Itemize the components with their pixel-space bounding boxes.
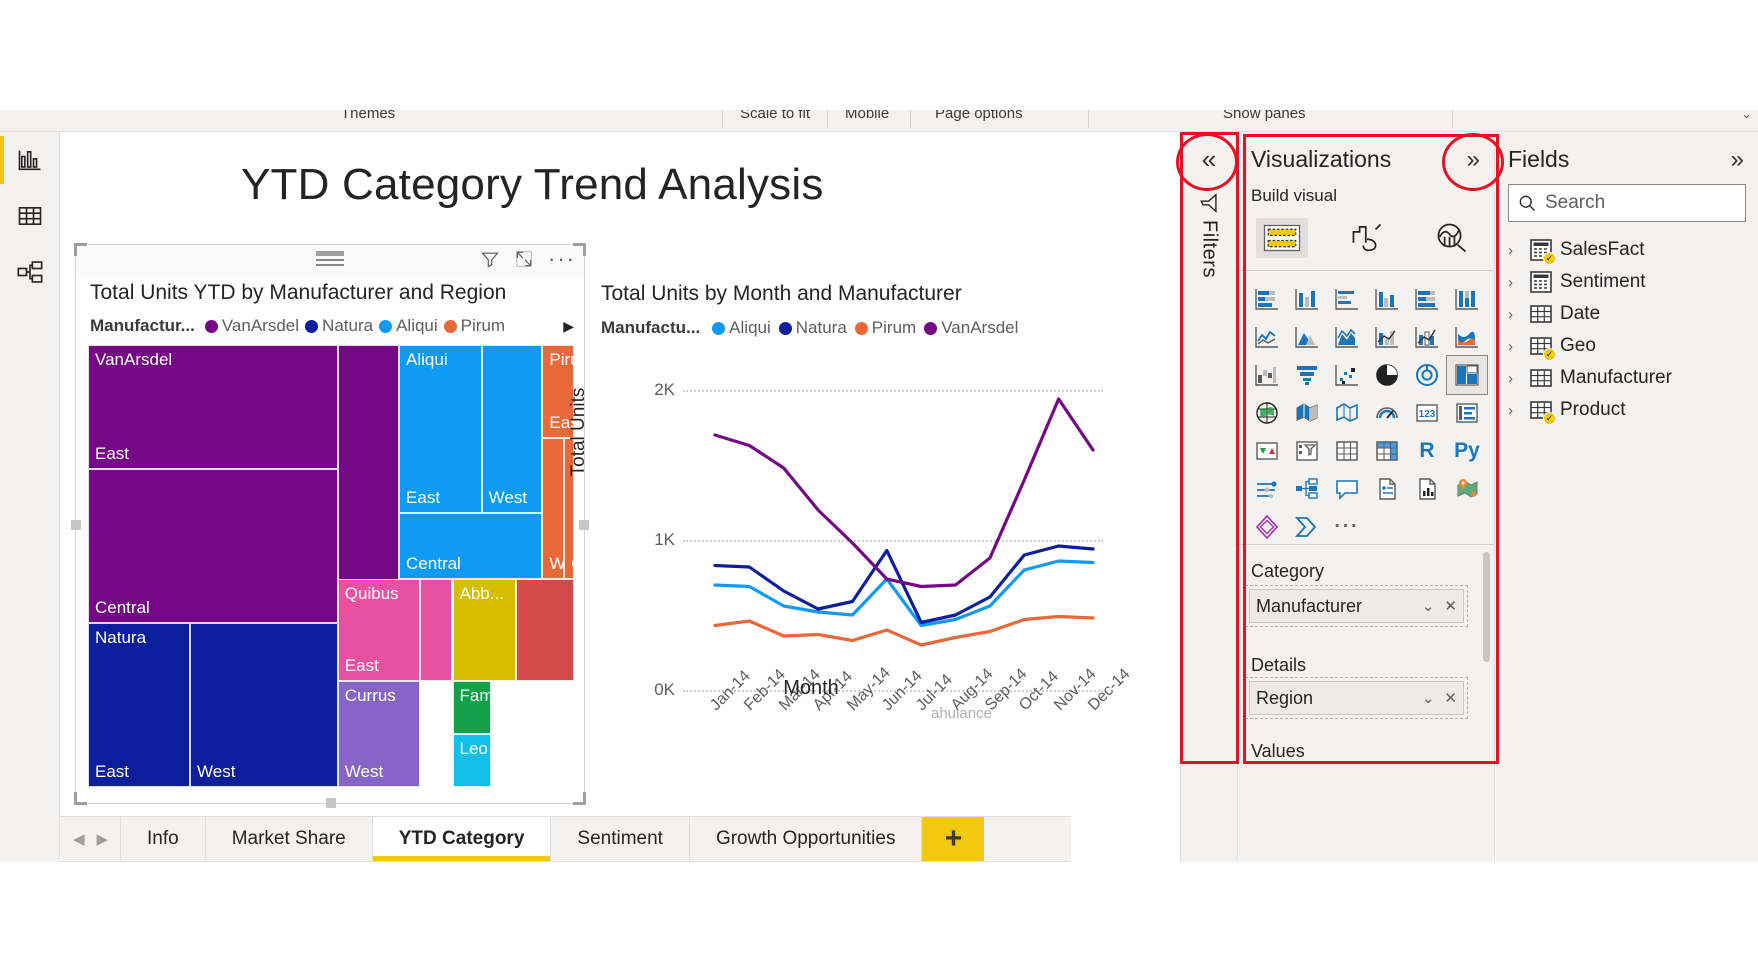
legend-label: Natura	[322, 316, 373, 336]
filters-pane-collapsed[interactable]: « Filters	[1180, 132, 1238, 862]
visual-treemap[interactable]: ··· Total Units YTD by Manufacturer and …	[75, 244, 585, 804]
fields-table-name: Sentiment	[1560, 271, 1646, 293]
legend-swatch	[779, 322, 792, 335]
visualizations-pane: Visualizations » Build visual	[1239, 132, 1495, 862]
table-checked-badge: ✓	[1543, 348, 1556, 361]
build-tab-analytics[interactable]	[1409, 215, 1494, 261]
page-prev-button[interactable]: ◀	[73, 830, 85, 848]
ribbon-divider	[722, 110, 723, 128]
treemap-tile-detail-label: W...	[549, 554, 564, 574]
legend-item-aliqui[interactable]: Aliqui	[712, 318, 771, 338]
tab-sentiment[interactable]: Sentiment	[551, 817, 690, 861]
format-paintbrush-icon	[1348, 222, 1386, 254]
y-axis-title: Total Units	[568, 388, 590, 477]
chevron-right-icon[interactable]: ›	[1508, 370, 1522, 387]
filled-map-icon[interactable]	[1287, 394, 1327, 432]
shape-map-icon[interactable]	[1327, 394, 1367, 432]
legend-swatch	[205, 320, 218, 333]
donut-chart-icon[interactable]	[1407, 356, 1447, 394]
powerbi-desktop-window: Themes Scale to fit Mobile Page options …	[0, 0, 1758, 966]
ribbon-group-scale-to-fit[interactable]: Scale to fit	[740, 110, 810, 122]
q-and-a-icon[interactable]	[1327, 470, 1367, 508]
fields-table-row-product[interactable]: ›✓Product	[1508, 398, 1625, 422]
treemap-tile-group-label: Pirum	[549, 350, 574, 370]
treemap-tile-detail-label: East	[95, 444, 129, 464]
y-tick-2k: 2K	[654, 380, 675, 400]
clustered-column-chart-icon[interactable]	[1367, 280, 1407, 318]
legend-label: Aliqui	[396, 316, 438, 336]
window-top-gap	[0, 0, 1758, 110]
filter-icon[interactable]	[480, 249, 500, 269]
visualizations-pane-title: Visualizations	[1251, 146, 1391, 173]
table-icon	[1529, 302, 1553, 326]
y-tick-1k: 1K	[654, 530, 675, 550]
multi-row-card-icon[interactable]	[1447, 394, 1487, 432]
search-icon	[1517, 193, 1537, 213]
treemap-tile[interactable]: NaturaEast	[88, 623, 190, 787]
legend-item-aliqui[interactable]: Aliqui	[379, 316, 438, 336]
ribbon-group-themes[interactable]: Themes	[341, 110, 395, 122]
legend-label: Pirum	[872, 318, 916, 338]
key-influencers-icon[interactable]	[1247, 470, 1287, 508]
treemap-tile-group-label: VanArsdel	[95, 350, 172, 370]
line-chart-legend: Manufactu... Aliqui Natura Pirum VanArsd…	[601, 318, 1018, 338]
report-view-icon	[16, 146, 44, 174]
table-icon: ✓	[1529, 334, 1553, 358]
line-series-group	[683, 390, 1103, 690]
treemap-tile-detail-label: East	[95, 762, 129, 782]
ribbon-group-mobile[interactable]: Mobile	[845, 110, 889, 122]
chevron-right-icon[interactable]: ›	[1508, 338, 1522, 355]
window-bottom-gap	[0, 862, 1758, 966]
fields-table-name: Date	[1560, 303, 1600, 325]
arcgis-map-icon[interactable]	[1447, 470, 1487, 508]
stacked-area-chart-icon[interactable]	[1327, 318, 1367, 356]
legend-swatch	[712, 322, 725, 335]
legend-item-natura[interactable]: Natura	[779, 318, 847, 338]
power-apps-icon[interactable]	[1247, 508, 1287, 546]
visual-type-gallery[interactable]: 123RPy···	[1247, 280, 1487, 546]
fields-pane: Fields » Search ›✓SalesFact›Sentiment›Da…	[1496, 132, 1758, 862]
close-icon[interactable]: ✕	[1444, 689, 1457, 707]
line-and-stacked-column-chart-icon[interactable]	[1367, 318, 1407, 356]
treemap-tile-detail-label: Central	[406, 554, 461, 574]
legend-title: Manufactu...	[601, 318, 700, 338]
legend-item-vanarsdel[interactable]: VanArsdel	[205, 316, 299, 336]
fields-table-row-salesfact[interactable]: ›✓SalesFact	[1508, 238, 1644, 262]
treemap-tile-detail-label: East	[406, 488, 440, 508]
treemap-tile-group-label: Quibus	[345, 584, 399, 604]
legend-label: Aliqui	[729, 318, 771, 338]
table-icon	[1529, 366, 1553, 390]
tab-market-share[interactable]: Market Share	[206, 817, 373, 861]
ribbon-divider	[910, 110, 911, 128]
resize-handle-bottom[interactable]	[326, 798, 336, 808]
resize-handle-tl[interactable]	[74, 243, 87, 256]
close-icon[interactable]: ✕	[1444, 597, 1457, 615]
clipped-visual-text: ahuiance	[931, 705, 992, 722]
resize-handle-br[interactable]	[573, 792, 586, 805]
area-chart-icon[interactable]	[1287, 318, 1327, 356]
ribbon-group-page-options[interactable]: Page options	[935, 110, 1023, 122]
fields-table-name: Product	[1560, 399, 1625, 421]
search-input[interactable]: Search	[1508, 184, 1746, 222]
treemap-tile-detail-label: West	[489, 488, 527, 508]
treemap-tile[interactable]: Central	[399, 513, 542, 579]
100-stacked-column-chart-icon[interactable]	[1447, 280, 1487, 318]
treemap-tile-group-label: Natura	[95, 628, 146, 648]
chevron-down-icon[interactable]: ⌄	[1422, 597, 1435, 615]
treemap-tile[interactable]: Central	[88, 469, 338, 624]
legend-next-arrow[interactable]: ▶	[563, 318, 574, 335]
legend-label: Pirum	[461, 316, 505, 336]
treemap-plot[interactable]: VanArsdelEastCentralW...AliquiEastWestCe…	[88, 345, 574, 787]
build-visual-label: Build visual	[1251, 186, 1337, 206]
visual-title: Total Units YTD by Manufacturer and Regi…	[90, 281, 506, 305]
treemap-tile[interactable]	[516, 579, 574, 681]
tab-info[interactable]: Info	[121, 817, 206, 861]
gauge-chart-icon[interactable]	[1367, 394, 1407, 432]
x-axis-tick-labels: Jan-14Feb-14Mar-14Apr-14May-14Jun-14Jul-…	[683, 694, 1103, 764]
legend-item-natura[interactable]: Natura	[305, 316, 373, 336]
table-icon: ✓	[1529, 398, 1553, 422]
treemap-tile[interactable]: AliquiEast	[399, 345, 482, 513]
sidebar-item-report-view[interactable]	[0, 132, 60, 188]
fields-table-name: Manufacturer	[1560, 367, 1672, 389]
build-tab-separator	[1239, 270, 1494, 271]
svg-text:123: 123	[1419, 409, 1436, 420]
add-page-button[interactable]: +	[922, 817, 984, 861]
treemap-tile-detail-label: West	[345, 762, 383, 782]
paginated-report-icon[interactable]	[1407, 470, 1447, 508]
fields-table-row-sentiment[interactable]: ›Sentiment	[1508, 270, 1646, 294]
treemap-tile-group-label: Fama	[460, 686, 492, 706]
treemap-tile[interactable]: Abb...	[453, 579, 516, 681]
y-tick-0k: 0K	[654, 680, 675, 700]
well-label-details: Details	[1251, 655, 1306, 676]
kpi-icon[interactable]	[1247, 432, 1287, 470]
treemap-tile[interactable]: W...	[542, 438, 564, 579]
filters-collapse-button[interactable]: «	[1202, 144, 1216, 175]
line-series-vanarsdel[interactable]	[715, 399, 1093, 587]
visualizations-pane-scrollbar[interactable]	[1483, 552, 1490, 662]
fields-table-name: Geo	[1560, 335, 1596, 357]
well-label-values: Values	[1251, 741, 1305, 762]
sidebar-item-model-view[interactable]	[0, 244, 60, 300]
well-label-category: Category	[1251, 561, 1324, 582]
resize-handle-tr[interactable]	[573, 243, 586, 256]
treemap-tile[interactable]: Fama	[453, 681, 492, 734]
chevron-right-icon[interactable]: ›	[1508, 402, 1522, 419]
treemap-tile[interactable]: QuibusEast	[338, 579, 421, 681]
analytics-icon	[1433, 222, 1471, 254]
filter-icon	[1198, 192, 1220, 214]
resize-handle-bl[interactable]	[74, 792, 87, 805]
legend-item-pirum[interactable]: Pirum	[444, 316, 505, 336]
fields-build-icon	[1263, 223, 1301, 253]
well-field-name: Region	[1256, 688, 1313, 709]
table-icon[interactable]	[1327, 432, 1367, 470]
search-placeholder: Search	[1545, 192, 1605, 214]
treemap-tile-detail-label: West	[197, 762, 235, 782]
legend-label: Natura	[796, 318, 847, 338]
legend-swatch	[379, 320, 392, 333]
legend-swatch	[924, 322, 937, 335]
legend-swatch	[855, 322, 868, 335]
well-field-name: Manufacturer	[1256, 596, 1362, 617]
fields-expand-button[interactable]: »	[1731, 146, 1744, 174]
table-checked-badge: ✓	[1543, 412, 1556, 425]
page-title: YTD Category Trend Analysis	[241, 160, 824, 210]
treemap-tile[interactable]: West	[190, 623, 338, 787]
build-tab-format[interactable]	[1324, 215, 1409, 261]
matrix-icon[interactable]	[1367, 432, 1407, 470]
treemap-tile-detail-label: Central	[95, 598, 150, 618]
treemap-tile[interactable]: CurrusWest	[338, 681, 421, 787]
chevron-right-icon[interactable]: ›	[1508, 306, 1522, 323]
treemap-tile[interactable]: West	[482, 345, 543, 513]
legend-title: Manufactur...	[90, 316, 195, 336]
ribbon-group-strip: Themes Scale to fit Mobile Page options …	[0, 110, 1758, 132]
treemap-tile-group-label: Currus	[345, 686, 396, 706]
build-tab-fields[interactable]	[1239, 215, 1324, 261]
stacked-bar-chart-icon[interactable]	[1247, 280, 1287, 318]
treemap-tile-detail-label: East	[345, 656, 379, 676]
page-tab-nav: ◀ ▶	[61, 817, 121, 861]
page-tab-bar: ◀ ▶ Info Market Share YTD Category Senti…	[61, 816, 1071, 862]
page-next-button[interactable]: ▶	[97, 830, 109, 848]
pie-chart-icon[interactable]	[1367, 356, 1407, 394]
card-icon[interactable]: 123	[1407, 394, 1447, 432]
treemap-tile-group-label: Leo	[460, 739, 488, 759]
table-checked-badge: ✓	[1543, 252, 1556, 265]
slicer-icon[interactable]	[1287, 432, 1327, 470]
ribbon-divider	[1088, 110, 1089, 128]
focus-mode-icon[interactable]	[514, 249, 534, 269]
resize-handle-right[interactable]	[579, 520, 589, 530]
treemap-tile-group-label: Aliqui	[406, 350, 448, 370]
100-stacked-bar-chart-icon[interactable]	[1407, 280, 1447, 318]
visual-line-chart[interactable]: Total Units by Month and Manufacturer Ma…	[601, 282, 1121, 827]
visual-drag-handle[interactable]	[316, 251, 344, 263]
resize-handle-left[interactable]	[71, 520, 81, 530]
visual-header: ···	[76, 245, 584, 277]
calculated-table-icon	[1529, 270, 1553, 294]
ribbon-divider	[1452, 110, 1453, 128]
treemap-tile[interactable]	[420, 579, 452, 681]
treemap-tile[interactable]: Leo	[453, 734, 492, 787]
decomposition-tree-icon[interactable]	[1287, 470, 1327, 508]
legend-label: VanArsdel	[222, 316, 299, 336]
more-visuals-icon[interactable]: ···	[1327, 508, 1367, 546]
map-icon[interactable]	[1247, 394, 1287, 432]
chevron-down-icon[interactable]: ⌄	[1422, 689, 1435, 707]
line-series-pirum[interactable]	[715, 617, 1093, 646]
fields-table-name: SalesFact	[1560, 239, 1644, 261]
legend-swatch	[305, 320, 318, 333]
sidebar-item-data-view[interactable]	[0, 188, 60, 244]
view-switcher-rail	[0, 132, 60, 862]
legend-label: VanArsdel	[941, 318, 1018, 338]
line-and-clustered-column-chart-icon[interactable]	[1407, 318, 1447, 356]
stacked-column-chart-icon[interactable]	[1287, 280, 1327, 318]
clustered-bar-chart-icon[interactable]	[1327, 280, 1367, 318]
ribbon-divider	[827, 110, 828, 128]
treemap-tile-detail-label: Ce...	[571, 554, 574, 574]
narrative-icon[interactable]	[1367, 470, 1407, 508]
tab-ytd-category[interactable]: YTD Category	[373, 817, 552, 861]
fields-table-row-geo[interactable]: ›✓Geo	[1508, 334, 1596, 358]
treemap-tile[interactable]: VanArsdelEast	[88, 345, 338, 469]
x-axis-title: Month	[783, 677, 839, 700]
model-view-icon	[16, 258, 44, 286]
ribbon-chart-icon[interactable]	[1447, 318, 1487, 356]
funnel-chart-icon[interactable]	[1287, 356, 1327, 394]
tab-growth-opportunities[interactable]: Growth Opportunities	[690, 817, 923, 861]
treemap-tile-group-label: Abb...	[460, 584, 504, 604]
line-chart-plot[interactable]: 2K 1K 0K Jan-14Feb-14Mar-14Apr-14May-14J…	[683, 390, 1103, 690]
data-view-icon	[16, 202, 44, 230]
visual-title: Total Units by Month and Manufacturer	[601, 282, 962, 306]
visualizations-expand-button[interactable]: »	[1467, 146, 1480, 174]
treemap-chart-icon[interactable]	[1447, 356, 1487, 394]
treemap-legend: Manufactur... VanArsdel Natura Aliqui Pi…	[90, 315, 574, 337]
calculated-table-icon: ✓	[1529, 238, 1553, 262]
waterfall-chart-icon[interactable]	[1247, 356, 1287, 394]
legend-item-pirum[interactable]: Pirum	[855, 318, 916, 338]
ribbon-collapse-caret[interactable]: ⌄	[1741, 110, 1752, 122]
line-chart-icon[interactable]	[1247, 318, 1287, 356]
fields-table-row-date[interactable]: ›Date	[1508, 302, 1600, 326]
r-script-visual-icon[interactable]: R	[1407, 432, 1447, 470]
well-field-manufacturer[interactable]: Manufacturer ⌄ ✕	[1249, 589, 1464, 623]
chevron-right-icon[interactable]: ›	[1508, 242, 1522, 259]
chevron-right-icon[interactable]: ›	[1508, 274, 1522, 291]
scatter-chart-icon[interactable]	[1327, 356, 1367, 394]
legend-swatch	[444, 320, 457, 333]
legend-item-vanarsdel[interactable]: VanArsdel	[924, 318, 1018, 338]
well-field-region[interactable]: Region ⌄ ✕	[1249, 681, 1464, 715]
ribbon-group-show-panes[interactable]: Show panes	[1223, 110, 1306, 122]
power-automate-icon[interactable]	[1287, 508, 1327, 546]
filters-pane-label: Filters	[1198, 220, 1221, 278]
fields-pane-title: Fields	[1508, 146, 1569, 173]
report-canvas[interactable]: YTD Category Trend Analysis ··· Total Un…	[61, 132, 1138, 862]
python-visual-icon[interactable]: Py	[1447, 432, 1487, 470]
line-series-aliqui[interactable]	[715, 561, 1093, 626]
fields-table-row-manufacturer[interactable]: ›Manufacturer	[1508, 366, 1672, 390]
more-options-icon[interactable]: ···	[548, 252, 576, 266]
field-wells: Category Manufacturer ⌄ ✕ Details Region…	[1239, 544, 1494, 862]
